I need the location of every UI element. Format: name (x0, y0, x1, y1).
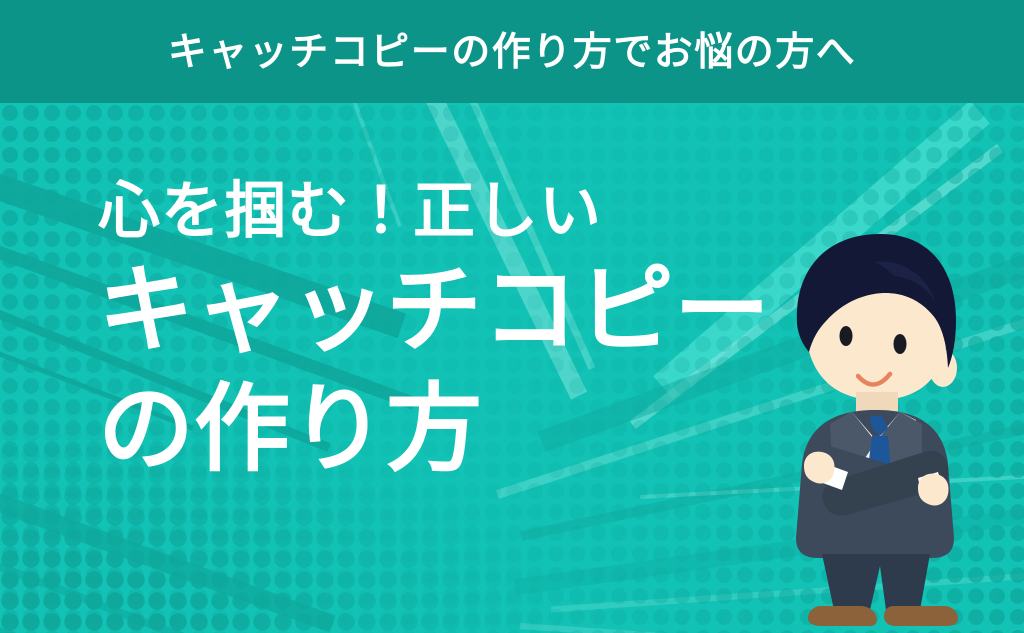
businessman-illustration (770, 228, 1018, 633)
headline-line-2: キャッチコピー (98, 253, 770, 368)
headline-block: 心を掴む！正しい キャッチコピー の作り方 (98, 178, 770, 487)
headline-line-1: 心を掴む！正しい (98, 178, 770, 243)
eye-left (840, 326, 853, 346)
eye-right (894, 334, 907, 354)
header-title: キャッチコピーの作り方でお悩の方へ (168, 33, 857, 72)
shoe-right (884, 606, 958, 626)
shoe-left (808, 606, 877, 626)
catch-copy-banner: キャッチコピーの作り方でお悩の方へ 心を掴む！正しい キャッチコピー の作り方 (0, 0, 1024, 633)
header-band: キャッチコピーの作り方でお悩の方へ (0, 0, 1024, 103)
headline-line-3: の作り方 (98, 372, 770, 487)
trousers-shape (822, 554, 930, 610)
